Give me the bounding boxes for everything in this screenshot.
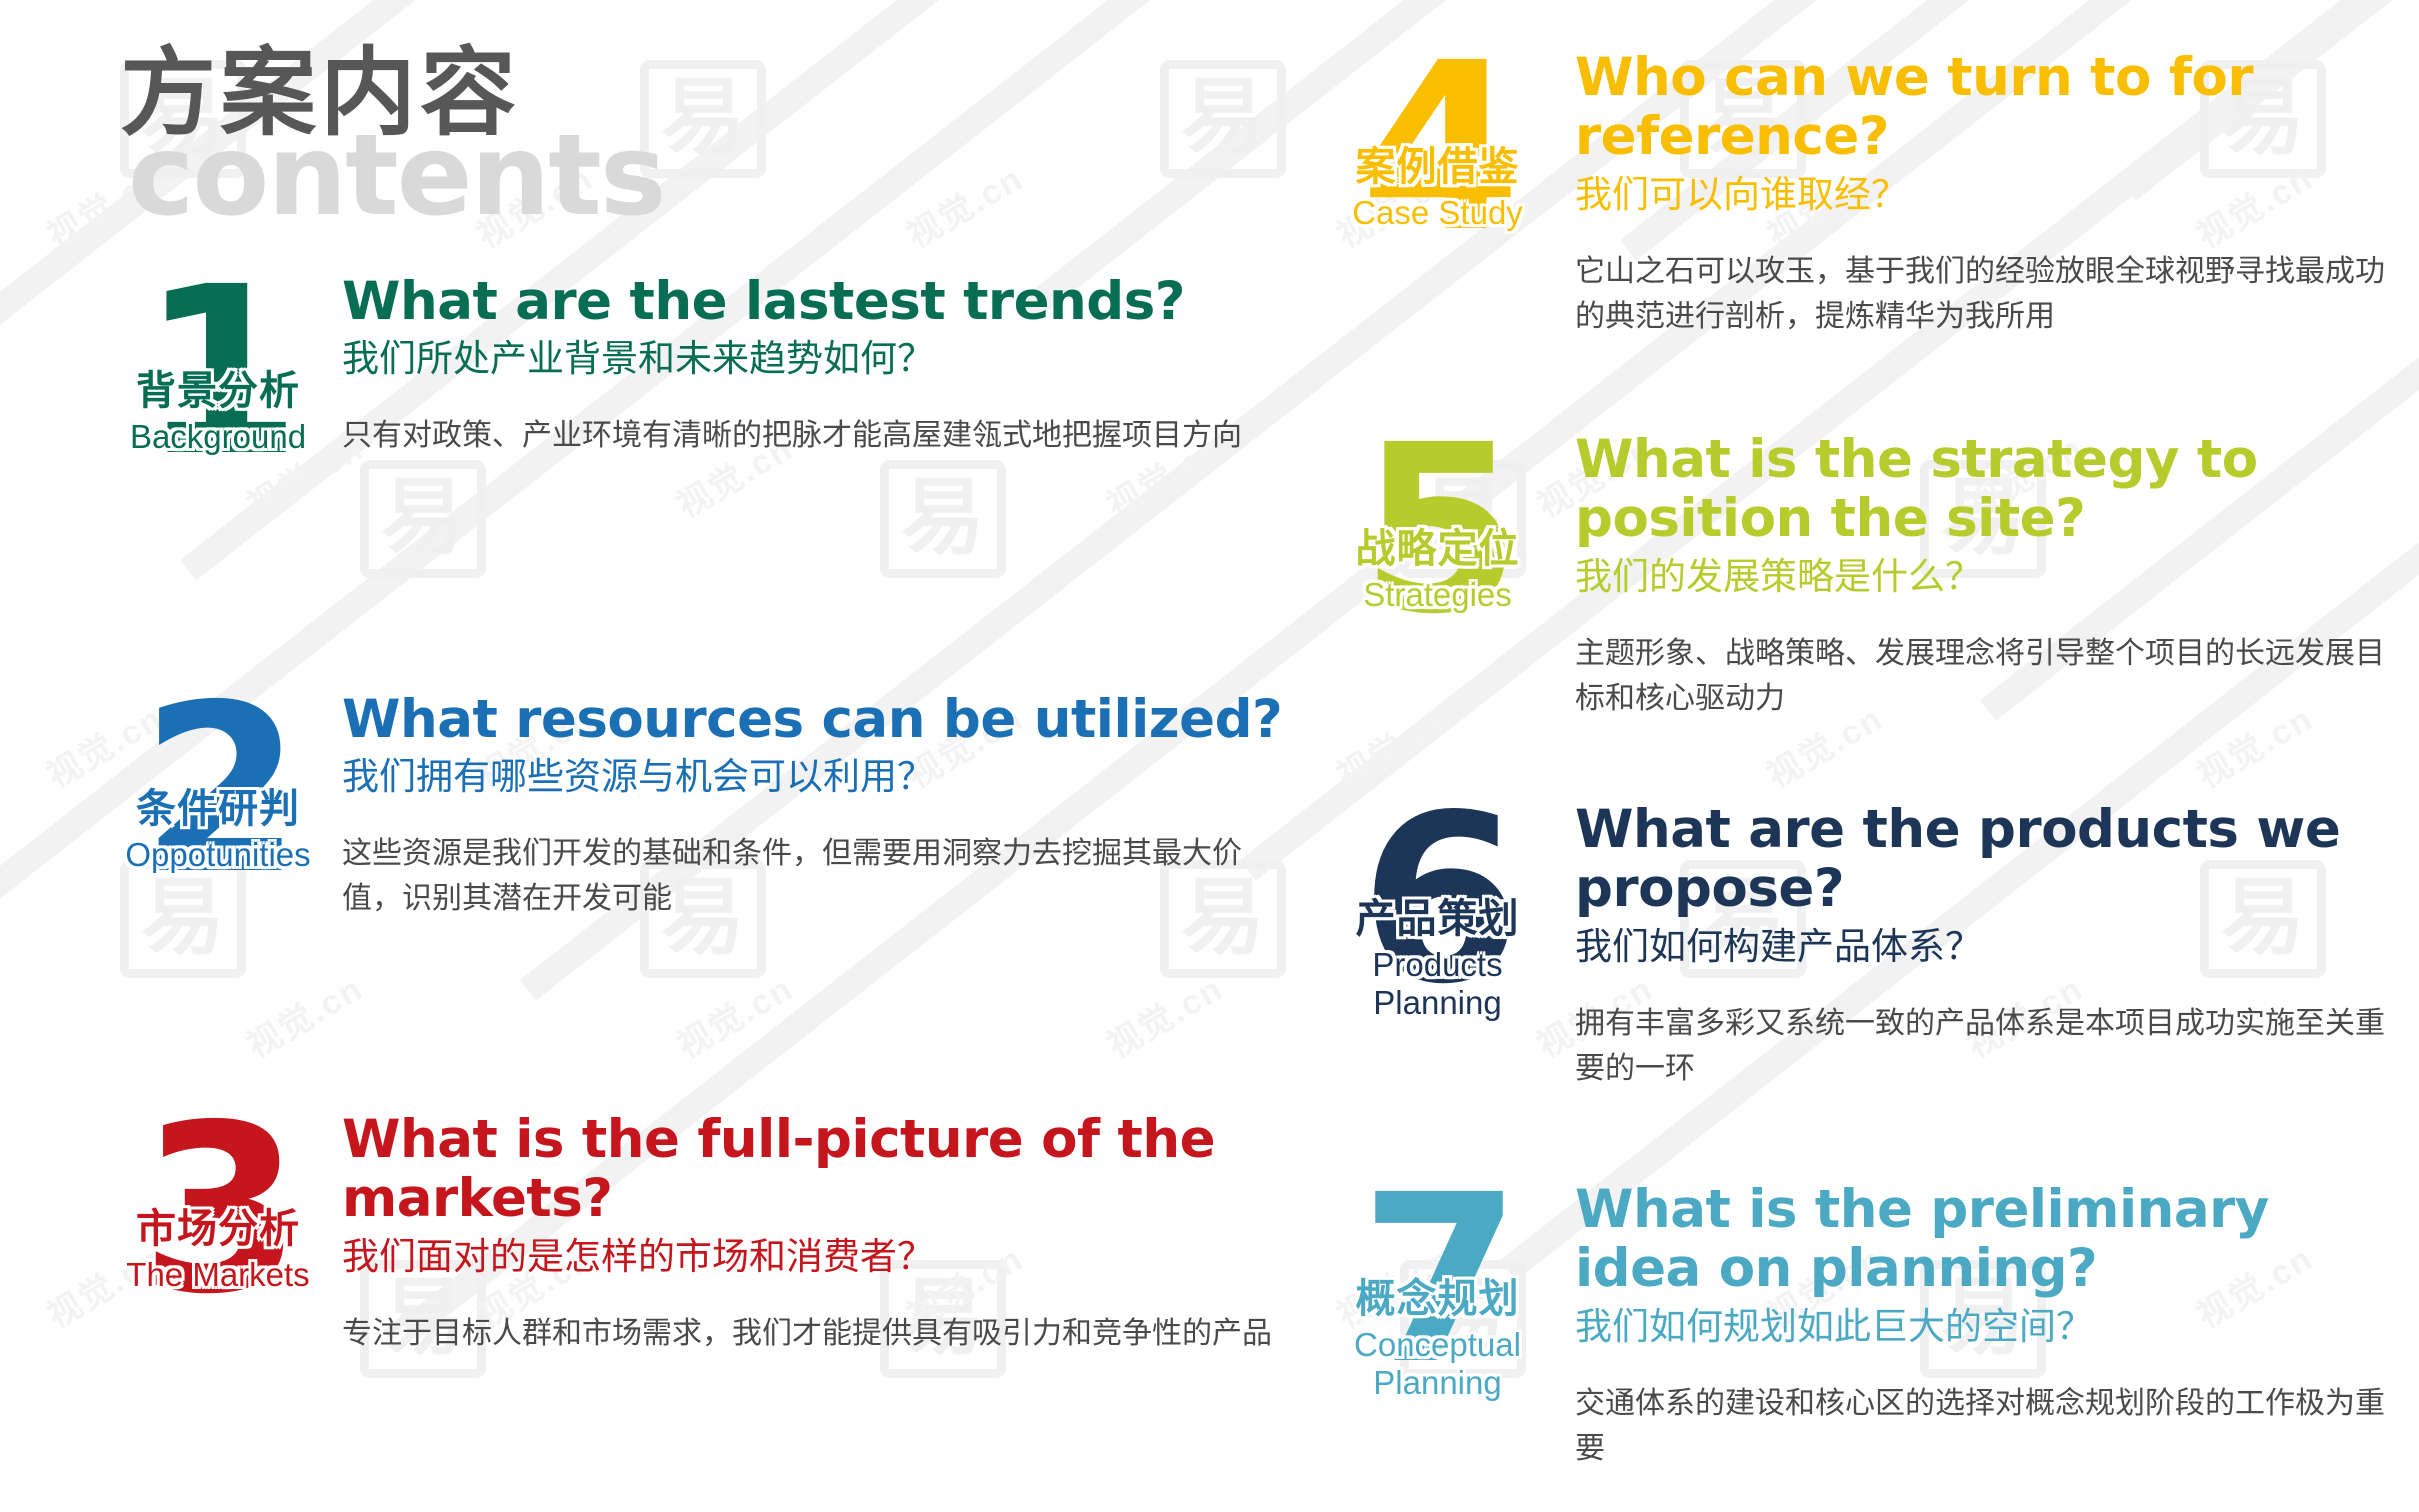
content-item-3[interactable]: 3 市场分析 The Markets What is the full-pict… (118, 1110, 1298, 1356)
item-body-4: Who can we turn to for reference? 我们可以向谁… (1545, 48, 2390, 339)
item-label-cn-7: 概念规划 (1320, 1276, 1555, 1322)
item-description-4: 它山之石可以攻玉，基于我们的经验放眼全球视野寻找最成功的典范进行剖析，提炼精华为… (1575, 249, 2390, 339)
item-badge-7: 7 概念规划 Conceptual Planning (1330, 1180, 1545, 1410)
item-label-1: 背景分析 Background (108, 368, 328, 456)
item-heading-en-5: What is the strategy to position the sit… (1575, 430, 2390, 549)
item-description-5: 主题形象、战略策略、发展理念将引导整个项目的长远发展目标和核心驱动力 (1575, 631, 2390, 721)
content-item-6[interactable]: 6 产品策划 Products Planning What are the pr… (1330, 800, 2390, 1091)
item-label-en-7: Conceptual Planning (1320, 1326, 1555, 1402)
item-heading-cn-1: 我们所处产业背景和未来趋势如何？ (342, 335, 1242, 383)
item-label-cn-1: 背景分析 (108, 368, 328, 414)
item-description-1: 只有对政策、产业环境有清晰的把脉才能高屋建瓴式地把握项目方向 (342, 413, 1242, 458)
item-body-5: What is the strategy to position the sit… (1545, 430, 2390, 721)
item-heading-cn-6: 我们如何构建产品体系？ (1575, 923, 2390, 971)
content-item-7[interactable]: 7 概念规划 Conceptual Planning What is the p… (1330, 1180, 2390, 1471)
slide-canvas: contents 方案内容 1 背景分析 Background What are… (0, 0, 2419, 1512)
item-description-3: 专注于目标人群和市场需求，我们才能提供具有吸引力和竞争性的产品 (342, 1311, 1298, 1356)
item-heading-cn-2: 我们拥有哪些资源与机会可以利用？ (342, 753, 1298, 801)
item-heading-en-6: What are the products we propose? (1575, 800, 2390, 919)
item-label-en-1: Background (108, 418, 328, 456)
item-heading-cn-5: 我们的发展策略是什么？ (1575, 553, 2390, 601)
item-badge-1: 1 背景分析 Background (118, 272, 318, 502)
item-label-cn-5: 战略定位 (1320, 526, 1555, 572)
item-badge-2: 2 条件研判 Oppotunities (118, 690, 318, 920)
item-body-7: What is the preliminary idea on planning… (1545, 1180, 2390, 1471)
item-heading-en-1: What are the lastest trends? (342, 272, 1242, 331)
content-item-1[interactable]: 1 背景分析 Background What are the lastest t… (118, 272, 1298, 502)
content-item-5[interactable]: 5 战略定位 Strategies What is the strategy t… (1330, 430, 2390, 721)
item-badge-4: 4 案例借鉴 Case Study (1330, 48, 1545, 278)
item-body-1: What are the lastest trends? 我们所处产业背景和未来… (318, 272, 1242, 458)
item-body-2: What resources can be utilized? 我们拥有哪些资源… (318, 690, 1298, 921)
item-description-7: 交通体系的建设和核心区的选择对概念规划阶段的工作极为重要 (1575, 1381, 2390, 1471)
title-chinese: 方案内容 (120, 38, 520, 148)
item-description-2: 这些资源是我们开发的基础和条件，但需要用洞察力去挖掘其最大价值，识别其潜在开发可… (342, 831, 1298, 921)
item-label-4: 案例借鉴 Case Study (1320, 144, 1555, 232)
item-badge-5: 5 战略定位 Strategies (1330, 430, 1545, 660)
item-label-2: 条件研判 Oppotunities (108, 786, 328, 874)
item-heading-en-4: Who can we turn to for reference? (1575, 48, 2390, 167)
content-item-4[interactable]: 4 案例借鉴 Case Study Who can we turn to for… (1330, 48, 2390, 339)
item-badge-3: 3 市场分析 The Markets (118, 1110, 318, 1340)
item-label-cn-6: 产品策划 (1320, 896, 1555, 942)
item-label-5: 战略定位 Strategies (1320, 526, 1555, 614)
item-heading-cn-4: 我们可以向谁取经？ (1575, 171, 2390, 219)
content-item-2[interactable]: 2 条件研判 Oppotunities What resources can b… (118, 690, 1298, 921)
item-body-3: What is the full-picture of the markets?… (318, 1110, 1298, 1356)
item-label-6: 产品策划 Products Planning (1320, 896, 1555, 1022)
item-heading-en-3: What is the full-picture of the markets? (342, 1110, 1298, 1229)
item-label-cn-2: 条件研判 (108, 786, 328, 832)
item-label-cn-4: 案例借鉴 (1320, 144, 1555, 190)
item-body-6: What are the products we propose? 我们如何构建… (1545, 800, 2390, 1091)
page-title: contents 方案内容 (120, 38, 820, 218)
item-label-7: 概念规划 Conceptual Planning (1320, 1276, 1555, 1402)
item-label-en-5: Strategies (1320, 576, 1555, 614)
item-label-cn-3: 市场分析 (108, 1206, 328, 1252)
item-badge-6: 6 产品策划 Products Planning (1330, 800, 1545, 1030)
item-heading-cn-7: 我们如何规划如此巨大的空间？ (1575, 1303, 2390, 1351)
item-description-6: 拥有丰富多彩又系统一致的产品体系是本项目成功实施至关重要的一环 (1575, 1001, 2390, 1091)
item-label-en-2: Oppotunities (108, 836, 328, 874)
item-label-en-3: The Markets (108, 1256, 328, 1294)
item-label-3: 市场分析 The Markets (108, 1206, 328, 1294)
item-heading-cn-3: 我们面对的是怎样的市场和消费者？ (342, 1233, 1298, 1281)
item-label-en-4: Case Study (1320, 194, 1555, 232)
item-heading-en-2: What resources can be utilized? (342, 690, 1298, 749)
item-heading-en-7: What is the preliminary idea on planning… (1575, 1180, 2390, 1299)
item-label-en-6: Products Planning (1320, 946, 1555, 1022)
